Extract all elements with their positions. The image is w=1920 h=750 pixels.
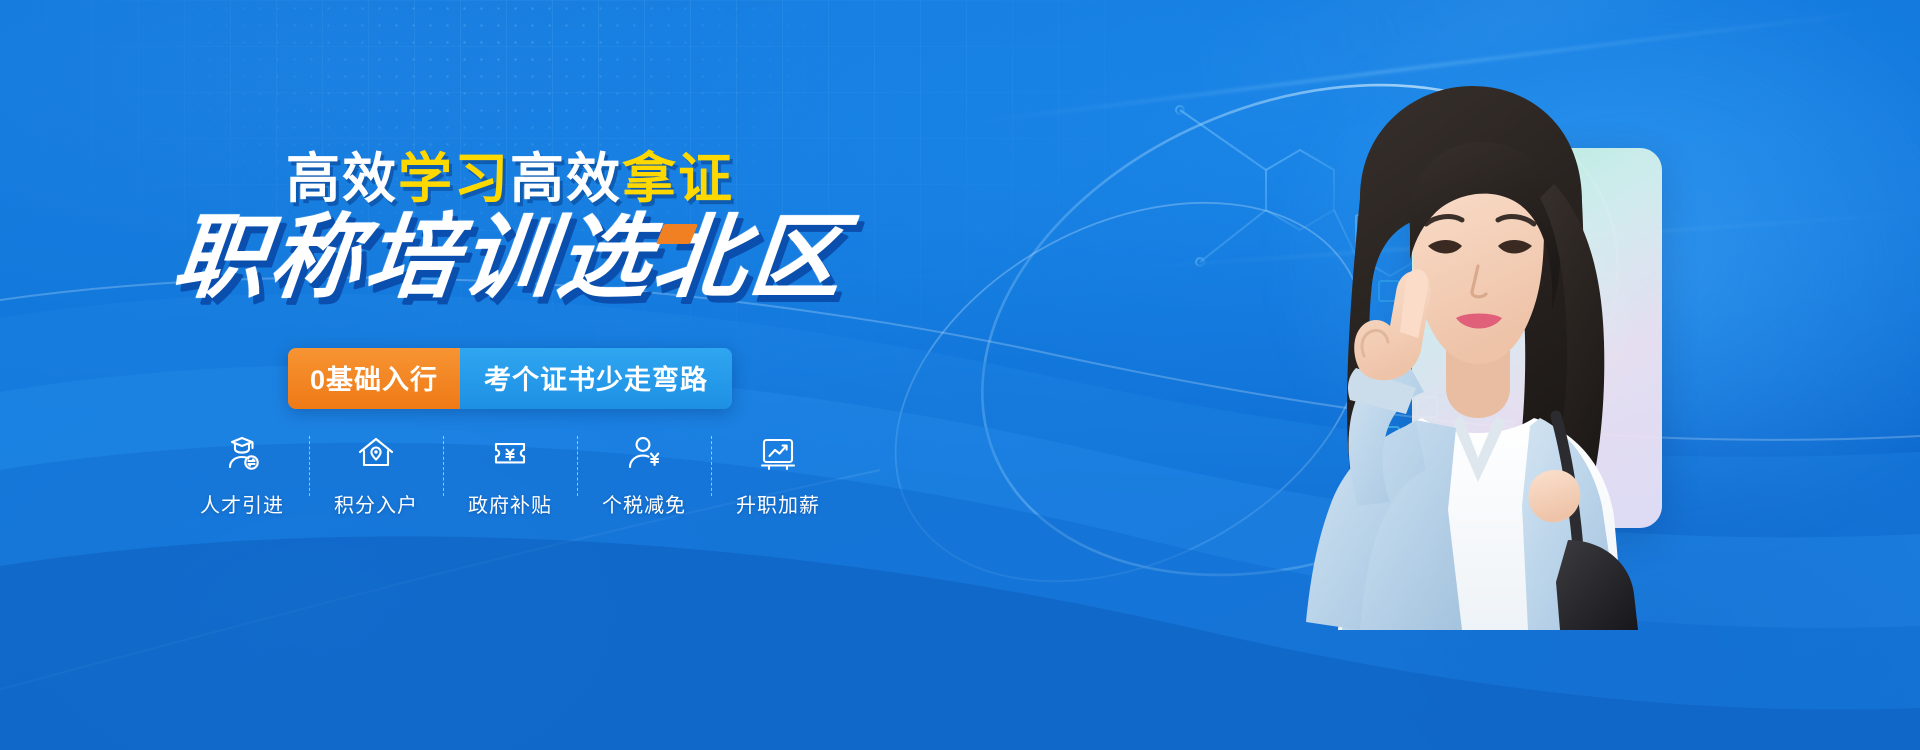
person-photo (1210, 70, 1730, 630)
feature-label: 个税减免 (602, 489, 686, 518)
feature-item-points-residency[interactable]: 积分入户 (310, 430, 443, 518)
person-yuan-icon (621, 430, 667, 476)
woman-illustration (1210, 70, 1730, 630)
handbag (1556, 540, 1638, 630)
hero-visual (1060, 0, 1920, 750)
headline-part-3: 高效 (510, 149, 622, 209)
feature-label: 人才引进 (200, 489, 284, 518)
growth-chart-icon (755, 430, 801, 476)
graduate-exchange-icon (219, 430, 265, 476)
feature-item-talent-introduction[interactable]: 人才引进 (176, 430, 309, 518)
headline-part-2: 学习 (398, 149, 510, 209)
feature-label: 积分入户 (334, 489, 418, 518)
feature-item-government-subsidy[interactable]: 政府补贴 (444, 430, 577, 518)
pill-group: 0基础入行 考个证书少走弯路 (288, 348, 732, 409)
headline-part-4: 拿证 (622, 149, 734, 209)
main-title-text: 职称培训选北区 (169, 212, 851, 304)
feature-item-tax-reduction[interactable]: 个税减免 (578, 430, 711, 518)
pill-primary[interactable]: 0基础入行 (288, 348, 460, 409)
ticket-yuan-icon (487, 430, 533, 476)
headline-part-1: 高效 (286, 149, 398, 209)
banner-content: 高效学习高效拿证 职称培训选北区 0基础入行 考个证书少走弯路 (0, 0, 1060, 750)
pill-secondary[interactable]: 考个证书少走弯路 (460, 348, 732, 409)
house-pin-icon (353, 430, 399, 476)
headline: 高效学习高效拿证 (0, 152, 1020, 206)
promo-banner: 高效学习高效拿证 职称培训选北区 0基础入行 考个证书少走弯路 (0, 0, 1920, 750)
main-title: 职称培训选北区 (0, 212, 1020, 304)
feature-item-promotion-raise[interactable]: 升职加薪 (712, 430, 845, 518)
feature-label: 升职加薪 (736, 489, 820, 518)
feature-list: 人才引进 积分入户 (0, 430, 1020, 518)
tagline-pills: 0基础入行 考个证书少走弯路 (0, 348, 1020, 409)
feature-label: 政府补贴 (468, 489, 552, 518)
